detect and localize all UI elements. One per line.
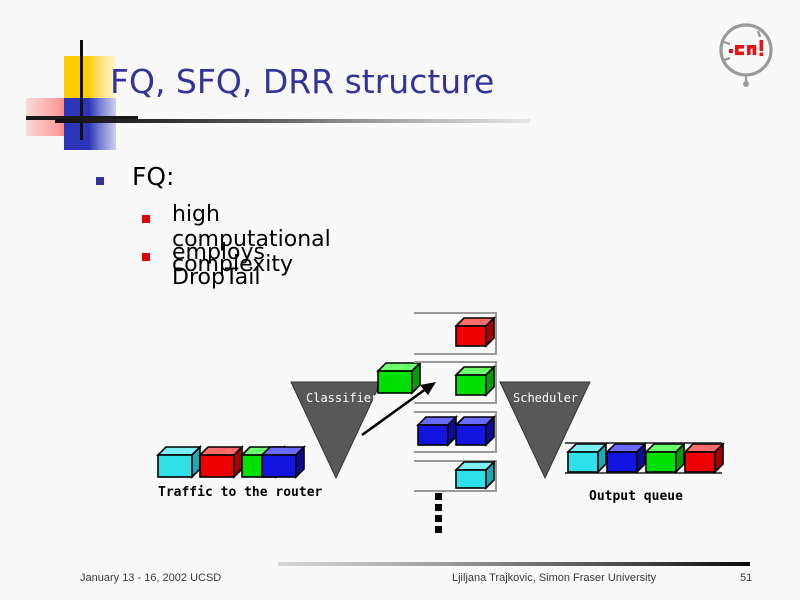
router-queue-diagram: Classifier Scheduler Traffic to the rout… [0,0,800,600]
scheduler-label: Scheduler [513,391,578,405]
queued-packet-blue [456,417,494,445]
queue-row-2 [414,362,497,403]
queue-row-4 [414,461,497,491]
queue-row-3 [414,412,497,452]
traffic-to-router-label: Traffic to the router [158,485,322,500]
input-packet-red [200,447,242,477]
queued-packet-blue [418,417,456,445]
output-packet-cyan [568,444,606,472]
slide-canvas: FQ, SFQ, DRR structure FQ: high [0,0,800,600]
footer-page-number: 51 [740,572,752,584]
footer-date-venue: January 13 - 16, 2002 UCSD [80,572,221,584]
queued-packet-green [456,367,494,395]
input-packet-cyan [158,447,200,477]
output-packet-blue [607,444,645,472]
output-queue-label: Output queue [589,489,683,504]
classifier-label: Classifier [306,391,378,405]
output-packet-green [646,444,684,472]
in-flight-packet-green [378,363,420,393]
output-packet-red [685,444,723,472]
footer-rule [278,562,750,566]
queue-row-1 [414,313,497,354]
queued-packet-cyan [456,462,494,488]
queued-packet-red [456,318,494,346]
queue-continuation-dots [435,493,442,533]
input-packet-blue [262,447,304,477]
footer-author-affiliation: Ljiljana Trajkovic, Simon Fraser Univers… [452,572,656,584]
